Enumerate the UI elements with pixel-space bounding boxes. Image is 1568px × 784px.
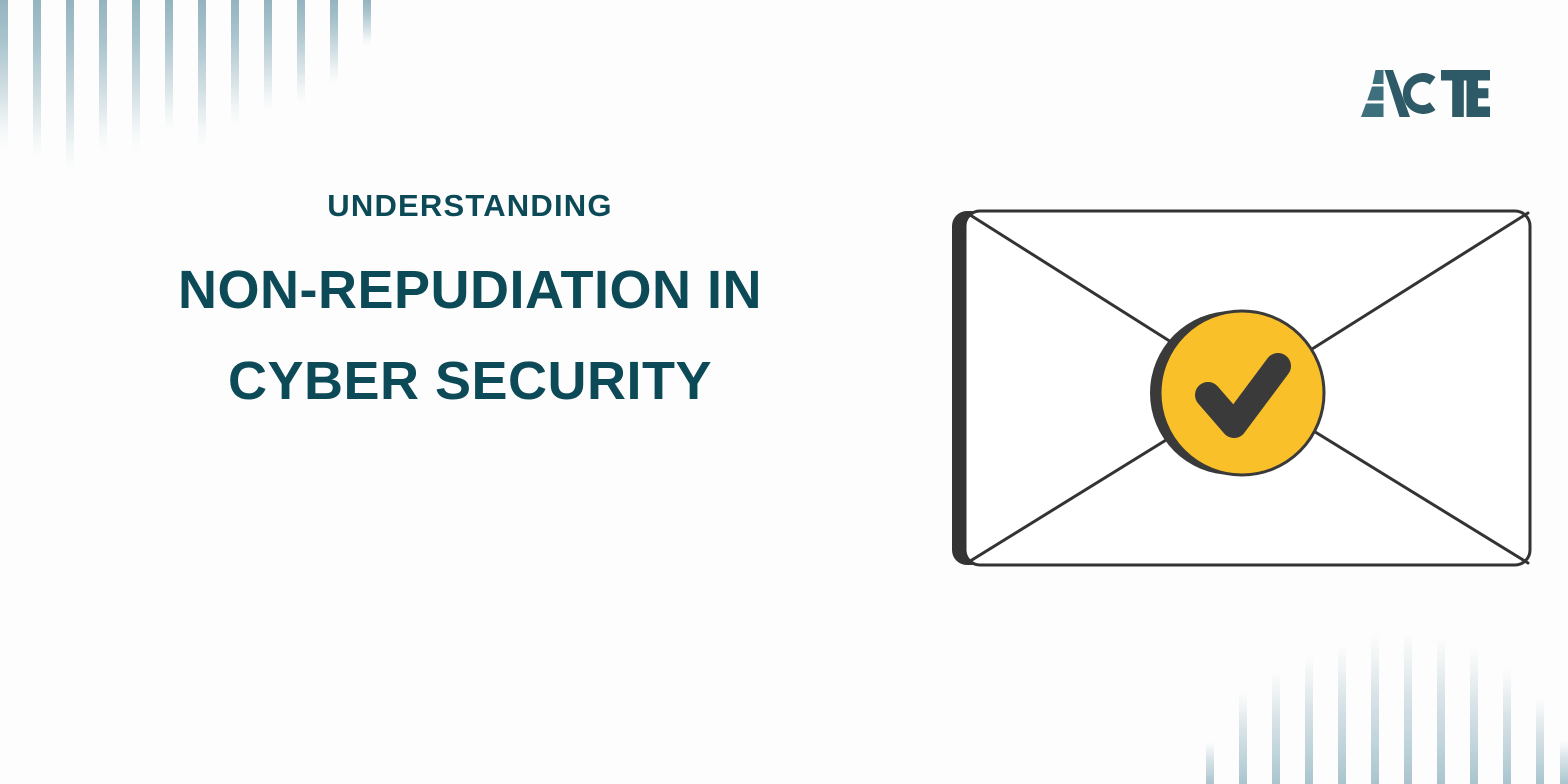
stripe-bottom-right-1 — [1239, 692, 1247, 784]
page-title-line-1: NON-REPUDIATION IN — [0, 263, 940, 317]
stripe-top-left-4 — [132, 0, 140, 150]
stripe-bottom-right-3 — [1305, 656, 1313, 784]
stripe-bottom-right-10 — [1536, 698, 1544, 784]
stripe-top-left-6 — [198, 0, 206, 148]
decorative-stripes-bottom-right — [1188, 604, 1568, 784]
eyebrow-text: UNDERSTANDING — [0, 190, 940, 221]
promo-banner: UNDERSTANDING NON-REPUDIATION IN CYBER S… — [0, 0, 1568, 784]
stripe-top-left-1 — [33, 0, 41, 160]
stripe-bottom-right-0 — [1206, 742, 1214, 784]
verified-check-badge — [1150, 311, 1324, 475]
stripe-bottom-right-4 — [1338, 644, 1346, 784]
acte-logo[interactable] — [1353, 70, 1490, 117]
stripe-bottom-right-9 — [1503, 668, 1511, 784]
stripe-top-left-0 — [0, 0, 8, 148]
stripe-bottom-right-8 — [1470, 648, 1478, 784]
stripe-bottom-right-6 — [1404, 632, 1412, 784]
headline-block: UNDERSTANDING NON-REPUDIATION IN CYBER S… — [0, 190, 940, 408]
stripe-top-left-5 — [165, 0, 173, 132]
stripe-top-left-7 — [231, 0, 239, 126]
page-title-line-2: CYBER SECURITY — [0, 354, 940, 408]
stripe-top-left-11 — [363, 0, 371, 46]
stripe-bottom-right-11 — [1560, 740, 1568, 784]
stripe-top-left-8 — [264, 0, 272, 112]
verified-envelope-illustration — [940, 190, 1550, 585]
stripe-bottom-right-2 — [1272, 672, 1280, 784]
decorative-stripes-top-left — [0, 0, 420, 180]
stripe-top-left-10 — [330, 0, 338, 84]
acte-logo-wordmark — [1353, 70, 1490, 117]
stripe-top-left-3 — [99, 0, 107, 152]
stripe-bottom-right-7 — [1437, 636, 1445, 784]
stripe-top-left-2 — [66, 0, 74, 172]
stripe-bottom-right-5 — [1371, 632, 1379, 784]
stripe-top-left-9 — [297, 0, 305, 104]
